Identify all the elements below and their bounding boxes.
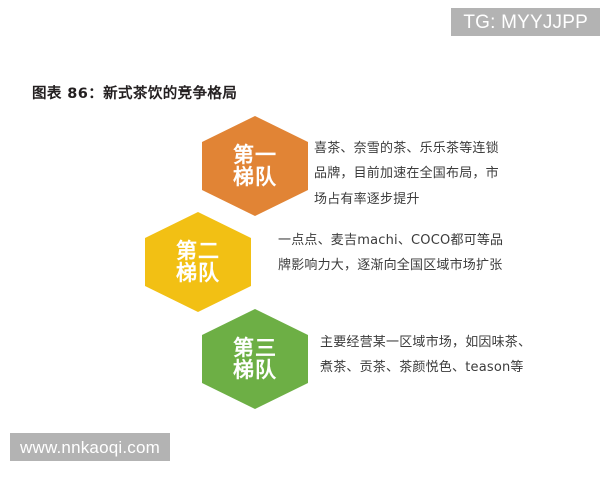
hexagon-tier-1[interactable]: 第一 梯队 bbox=[202, 116, 308, 216]
hexagon-tier-2-label-line-2: 梯队 bbox=[176, 262, 220, 284]
tier-3-description-line-1: 主要经营某一区域市场，如因味茶、 bbox=[320, 330, 542, 355]
tier-1-description-line-3: 场占有率逐步提升 bbox=[314, 187, 514, 212]
hexagon-tier-3-label-line-2: 梯队 bbox=[233, 359, 277, 381]
hexagon-tier-3-label-line-1: 第三 bbox=[233, 337, 277, 359]
tier-1-description-line-2: 品牌，目前加速在全国布局，市 bbox=[314, 161, 514, 186]
hexagon-tier-3[interactable]: 第三 梯队 bbox=[202, 309, 308, 409]
hexagon-tier-2-label-line-1: 第二 bbox=[176, 240, 220, 262]
diagram-page: TG: MYYJJPP 图表 86：新式茶饮的竞争格局 第一 梯队 喜茶、奈雪的… bbox=[0, 0, 600, 480]
tier-2-description: 一点点、麦吉machi、COCO都可等品 牌影响力大，逐渐向全国区域市场扩张 bbox=[278, 228, 510, 279]
tier-1-description-line-1: 喜茶、奈雪的茶、乐乐茶等连锁 bbox=[314, 136, 514, 161]
tier-2-description-line-2: 牌影响力大，逐渐向全国区域市场扩张 bbox=[278, 253, 510, 278]
page-title: 图表 86：新式茶饮的竞争格局 bbox=[32, 82, 237, 103]
watermark-top-right: TG: MYYJJPP bbox=[451, 8, 600, 36]
tier-3-description-line-2: 煮茶、贡茶、茶颜悦色、teason等 bbox=[320, 355, 542, 380]
hexagon-tier-1-label-line-2: 梯队 bbox=[233, 166, 277, 188]
tier-3-description: 主要经营某一区域市场，如因味茶、 煮茶、贡茶、茶颜悦色、teason等 bbox=[320, 330, 542, 381]
watermark-bottom-left: www.nnkaoqi.com bbox=[10, 433, 170, 461]
tier-1-description: 喜茶、奈雪的茶、乐乐茶等连锁 品牌，目前加速在全国布局，市 场占有率逐步提升 bbox=[314, 136, 514, 212]
tier-2-description-line-1: 一点点、麦吉machi、COCO都可等品 bbox=[278, 228, 510, 253]
hexagon-tier-1-label-line-1: 第一 bbox=[233, 144, 277, 166]
hexagon-tier-2[interactable]: 第二 梯队 bbox=[145, 212, 251, 312]
